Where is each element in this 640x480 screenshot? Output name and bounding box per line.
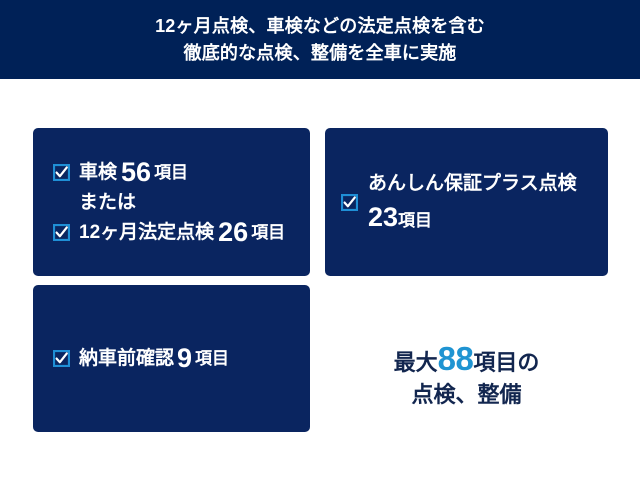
summary-middle: 項目 bbox=[473, 350, 517, 375]
checkbox-checked-icon bbox=[53, 164, 70, 181]
count-number: 23 bbox=[368, 202, 398, 232]
warranty-plus-lines: あんしん保証プラス点検 23項目 bbox=[368, 174, 577, 231]
predelivery-suffix: 項目 bbox=[195, 350, 229, 367]
count-suffix: 項目 bbox=[398, 211, 432, 230]
header-banner: 12ヶ月点検、車検などの法定点検を含む 徹底的な点検、整備を全車に実施 bbox=[0, 0, 640, 79]
row-prefix: 12ヶ月法定点検 bbox=[79, 223, 214, 242]
row-prefix: または bbox=[79, 193, 136, 212]
summary-prefix: 最大 bbox=[394, 350, 438, 375]
row-suffix: 項目 bbox=[154, 164, 188, 181]
list-item: 12ヶ月法定点検 26 項目 bbox=[53, 219, 302, 246]
summary-particle: の bbox=[517, 350, 539, 375]
total-summary: 最大88項目の 点検、整備 bbox=[325, 318, 608, 430]
list-item: または bbox=[53, 193, 302, 212]
predelivery-check-card: 納車前確認 9 項目 bbox=[33, 285, 310, 432]
row-suffix: 項目 bbox=[251, 224, 285, 241]
row-number: 26 bbox=[218, 219, 248, 246]
checkbox-checked-icon bbox=[341, 194, 358, 211]
header-line-1: 12ヶ月点検、車検などの法定点検を含む bbox=[155, 13, 485, 40]
predelivery-prefix: 納車前確認 bbox=[79, 349, 174, 368]
checkbox-checked-icon bbox=[53, 224, 70, 241]
inspection-items-card: 車検 56 項目 または 12ヶ月法定点検 26 項目 bbox=[33, 128, 310, 276]
row-number: 56 bbox=[121, 159, 151, 186]
warranty-plus-title: あんしん保証プラス点検 bbox=[368, 174, 577, 193]
inspection-items-list: 車検 56 項目 または 12ヶ月法定点検 26 項目 bbox=[53, 128, 302, 276]
row-prefix: 車検 bbox=[79, 163, 117, 182]
predelivery-number: 9 bbox=[177, 345, 192, 372]
summary-total-number: 88 bbox=[438, 340, 474, 377]
warranty-plus-count: 23項目 bbox=[368, 204, 577, 231]
header-line-2: 徹底的な点検、整備を全車に実施 bbox=[184, 40, 457, 67]
warranty-plus-card: あんしん保証プラス点検 23項目 bbox=[325, 128, 608, 276]
total-summary-line-2: 点検、整備 bbox=[411, 383, 521, 406]
total-summary-line-1: 最大88項目の bbox=[394, 342, 540, 377]
inspection-summary-infographic: 12ヶ月点検、車検などの法定点検を含む 徹底的な点検、整備を全車に実施 車検 5… bbox=[0, 0, 640, 480]
checkbox-checked-icon bbox=[53, 350, 70, 367]
warranty-plus-content: あんしん保証プラス点検 23項目 bbox=[341, 128, 600, 276]
predelivery-check-content: 納車前確認 9 項目 bbox=[53, 285, 302, 432]
list-item: 車検 56 項目 bbox=[53, 159, 302, 186]
